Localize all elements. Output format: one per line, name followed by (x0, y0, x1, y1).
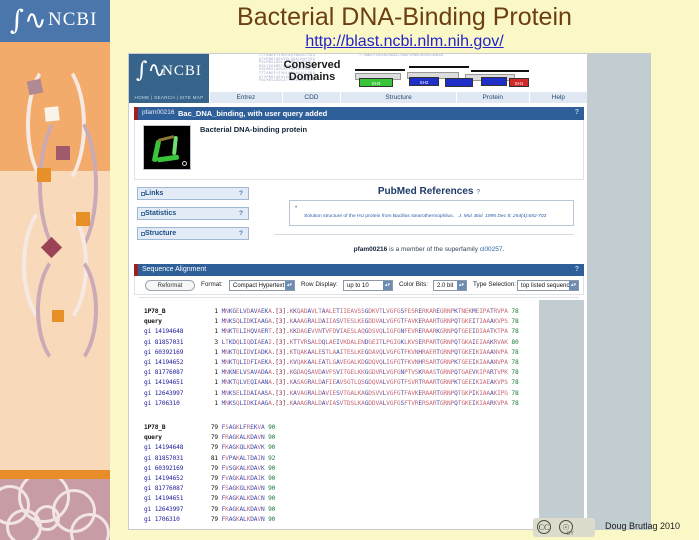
alignment-start-pos: 81 (204, 455, 218, 462)
alignment-seq-id[interactable]: gi 1706310 (144, 400, 204, 407)
panel-accent-tab (134, 264, 138, 276)
sidebar-square-2 (44, 106, 59, 121)
superfamily-period: . (503, 246, 505, 253)
alignment-row[interactable]: 1P78_B1 MNKGELVDAVAEKA.[3].KKQADAVLTAALE… (144, 308, 519, 315)
alignment-start-pos: 79 (204, 506, 218, 513)
nav-item-entrez[interactable]: Entrez (209, 92, 282, 103)
sidebar-square-1 (27, 79, 44, 96)
pubmed-heading: PubMed References ? (279, 186, 579, 197)
alignment-seq-id[interactable]: gi 81776087 (144, 485, 204, 492)
alignment-seq-id[interactable]: gi 12643997 (144, 506, 204, 513)
alignment-end-pos: 78 (511, 390, 518, 397)
alignment-seq-id[interactable]: 1P78_B (144, 308, 204, 315)
alignment-end-pos: 78 (511, 308, 518, 315)
alignment-start-pos: 3 (204, 339, 218, 346)
nav-item-cdd[interactable]: CDD (282, 92, 340, 103)
alignment-end-pos: 90 (268, 475, 275, 482)
alignment-row[interactable]: gi 1419465279 FVAGKALKDAIK 90 (144, 475, 275, 482)
pfam-panel-body: Bacterial DNA-binding protein (134, 120, 584, 180)
page-title: Bacterial DNA-Binding Protein (110, 3, 699, 32)
ncbi-brand-label: NCBI (162, 63, 202, 80)
pubmed-citation-box: • Solution structure of the HU protein f… (289, 200, 574, 226)
panel-accent-tab (134, 107, 138, 120)
color-bits-select[interactable]: 2.0 bit ▴▾ (433, 280, 467, 291)
pfam-colon: : (172, 109, 174, 116)
sidebar-ncbi-band: ∫∿ NCBI (0, 0, 110, 42)
sidebar-paisley-pattern (0, 479, 110, 540)
pubmed-citation-title[interactable]: Solution structure of the HU protein fro… (304, 214, 454, 219)
alignment-seq-id[interactable]: gi 81857031 (144, 455, 204, 462)
alignment-start-pos: 1 (204, 400, 218, 407)
alignment-end-pos: 90 (268, 424, 275, 431)
accordion-label-structure: Structure (145, 230, 176, 237)
cc-by-label: BY (567, 531, 574, 537)
alignment-seq-id[interactable]: gi 14194652 (144, 359, 204, 366)
alignment-row[interactable]: gi 1419464879 FKAGKQLKDAVK 90 (144, 444, 275, 451)
row-display-select[interactable]: up to 10 ▴▾ (343, 280, 393, 291)
accordion-label-links: Links (145, 190, 163, 197)
alignment-start-pos: 1 (204, 369, 218, 376)
color-bits-label: Color Bits: (399, 281, 428, 288)
alignment-row[interactable]: gi 141946511 MNKTQLVEQIAANA.[3].KASAGRAL… (144, 379, 519, 386)
accordion-label-statistics: Statistics (145, 210, 176, 217)
alignment-seq-id[interactable]: gi 60392169 (144, 465, 204, 472)
format-label: Format: (201, 281, 223, 288)
pfam-title-label: Bac_DNA_binding, with user query added (178, 109, 327, 118)
sidebar-square-7 (52, 310, 64, 322)
alignment-start-pos: 79 (204, 465, 218, 472)
help-icon[interactable]: ? (476, 189, 480, 196)
creative-commons-badge: CC ☉ BY (533, 518, 595, 537)
browser-screenshot: ∫∿ NCBI TTTANEEYIVHLAQYNAALLYDAATVPNRLQE… (128, 53, 588, 530)
superfamily-note: pfam00216 is a member of the superfamily… (274, 246, 584, 253)
alignment-end-pos: 90 (268, 495, 275, 502)
author-credit: Doug Brutlag 2010 (605, 521, 680, 531)
alignment-row[interactable]: gi 818570313 LTKDQLIQDIAEAI.[3].KTTVRSAL… (144, 339, 519, 346)
alignment-start-pos: 1 (204, 390, 218, 397)
pfam-panel-header: pfam00216 : Bac_DNA_binding, with user q… (134, 107, 584, 120)
chevron-down-icon: ▴▾ (569, 281, 578, 290)
nav-item-protein[interactable]: Protein (456, 92, 529, 103)
alignment-row[interactable]: 1P78_B79 FSAGKLFREKVA 90 (144, 424, 275, 431)
sidebar-item-links[interactable]: Links ? (137, 187, 249, 200)
alignment-toolbar: Reformat Format: Compact Hypertext ▴▾ Ro… (134, 276, 584, 295)
nav-sub-links[interactable]: HOME | SEARCH | SITE MAP (129, 92, 209, 103)
protein-structure-thumbnail[interactable] (143, 125, 191, 170)
alignment-end-pos: 78 (511, 400, 518, 407)
alignment-start-pos: 79 (204, 444, 218, 451)
help-icon[interactable]: ? (575, 266, 579, 273)
type-selection-select[interactable]: top listed sequences ▴▾ (517, 280, 579, 291)
chevron-down-icon: ▴▾ (383, 281, 392, 290)
alignment-end-pos: 90 (268, 516, 275, 523)
alignment-seq-id[interactable]: gi 12643997 (144, 390, 204, 397)
superfamily-text: is a member of the superfamily (387, 246, 479, 253)
cc-icon: CC (537, 520, 551, 534)
superfamily-accession: pfam00216 (354, 246, 388, 253)
alignment-row[interactable]: gi 8185703181 FVPAKALTDAIN 92 (144, 455, 275, 462)
sidebar-square-3 (56, 146, 70, 160)
alignment-row[interactable]: gi 126439971 MNKSELIDAIAASA.[3].KAVAGRAL… (144, 390, 519, 397)
alignment-viewport: 1P78_B1 MNKGELVDAVAEKA.[3].KKQADAVLTAALE… (134, 300, 584, 525)
chevron-down-icon: ▴▾ (457, 281, 466, 290)
ncbi-banner: ∫∿ NCBI TTTANEEYIVHLAQYNAALLYDAATVPNRLQE… (129, 54, 587, 92)
alignment-row[interactable]: gi 603921691 MNKTQLIDVIADKA.[3].KTQAKAAL… (144, 349, 519, 356)
sequence-alignment-title: Sequence Alignment (142, 266, 206, 273)
pubmed-citation-journal: J. Mol. Biol. 1995 Dec 8; 254(4):692-703 (459, 214, 547, 219)
alignment-row[interactable]: gi 8177608779 FSAGKGLKDAVN 90 (144, 485, 275, 492)
superfamily-link[interactable]: cl00257 (480, 246, 503, 253)
alignment-seq-id[interactable]: 1P78_B (144, 424, 204, 431)
sidebar-item-structure[interactable]: Structure ? (137, 227, 249, 240)
alignment-start-pos: 79 (204, 475, 218, 482)
conserved-domains-title: Conserved Domains (277, 59, 347, 83)
decorative-sidebar: ∫∿ NCBI (0, 0, 110, 540)
type-selection-value: top listed sequences (521, 283, 576, 289)
browser-right-panel (588, 53, 651, 530)
ncbi-logo-block[interactable]: ∫∿ NCBI (129, 54, 209, 92)
row-display-value: up to 10 (347, 283, 369, 289)
nav-item-structure[interactable]: Structure (340, 92, 456, 103)
row-display-label: Row Display: (301, 281, 338, 288)
alignment-seq-id[interactable]: gi 1706310 (144, 516, 204, 523)
alignment-seq-id[interactable]: query (144, 434, 204, 441)
alignment-row[interactable]: gi 817760871 MNKNELVSAVADAA.[3].KGDAQSAV… (144, 369, 519, 376)
alignment-seq-id[interactable]: gi 14194651 (144, 379, 204, 386)
alignment-seq-id[interactable]: query (144, 318, 204, 325)
dna-helix-icon: ∫∿ (10, 6, 44, 36)
alignment-end-pos: 78 (511, 318, 518, 325)
alignment-start-pos: 1 (204, 328, 218, 335)
alignment-seq-id[interactable]: gi 14194652 (144, 475, 204, 482)
magnify-icon (182, 161, 187, 166)
reformat-button[interactable]: Reformat (145, 280, 195, 291)
alignment-row[interactable]: query1 MNKSQLIDKIAAGA.[3].KAAAGRALDAIIAS… (144, 318, 519, 325)
bullet-icon: • (295, 205, 297, 211)
alignment-row[interactable]: gi 6039216979 FVSGKALKDAVK 90 (144, 465, 275, 472)
help-icon[interactable]: ? (239, 210, 243, 217)
pfam-accession-label: pfam00216 (142, 109, 175, 116)
alignment-start-pos: 1 (204, 349, 218, 356)
color-bits-value: 2.0 bit (437, 283, 453, 289)
alignment-start-pos: 1 (204, 379, 218, 386)
divider (274, 234, 574, 235)
alignment-seq-id[interactable]: gi 14194648 (144, 328, 204, 335)
alignment-row[interactable]: gi 17063101 MNKSQLIDKIAAGA.[3].KAAAGRALD… (144, 400, 519, 407)
alignment-start-pos: 1 (204, 308, 218, 315)
banner-line-2: Domains (289, 71, 335, 83)
domain-backbone-1 (355, 69, 405, 71)
alignment-seq-id[interactable]: gi 81857031 (144, 339, 204, 346)
domain-sh3[interactable]: SH3 (359, 78, 393, 87)
alignment-start-pos: 79 (204, 516, 218, 523)
alignment-start-pos: 79 (204, 424, 218, 431)
alignment-row[interactable]: gi 141946521 MNKTQLIDFIAEKA.[3].KVQAKAAL… (144, 359, 519, 366)
chevron-down-icon: ▴▾ (285, 281, 294, 290)
alignment-end-pos: 90 (268, 444, 275, 451)
domain-backbone-2 (409, 66, 469, 68)
sequence-alignment-header: Sequence Alignment ? (134, 264, 584, 276)
sidebar-brand-label: NCBI (48, 9, 97, 31)
domain-sh1-blue (481, 77, 507, 86)
alignment-end-pos: 92 (268, 455, 275, 462)
sidebar-square-5 (76, 212, 90, 226)
banner-sequence-background-top: TTTANEEYIVHLAQYNAALLYDAATVPNRLQEAVELAQKL… (359, 54, 529, 66)
pfam-description: Bacterial DNA-binding protein (200, 125, 307, 134)
alignment-end-pos: 90 (268, 506, 275, 513)
domain-sh2-right (445, 78, 473, 87)
help-icon[interactable]: ? (575, 109, 579, 116)
sidebar-square-4 (37, 168, 51, 182)
domain-backbone-3 (471, 70, 529, 72)
alignment-end-pos: 90 (268, 434, 275, 441)
alignment-start-pos: 79 (204, 495, 218, 502)
alignment-end-pos: 90 (268, 465, 275, 472)
domain-sh2-left[interactable]: SH2 (409, 77, 439, 86)
alignment-row[interactable]: gi 1264399779 FKAGKALKDAVN 90 (144, 506, 275, 513)
alignment-end-pos: 90 (268, 485, 275, 492)
alignment-row[interactable]: gi 170631079 FRAGKALKDAVN 90 (144, 516, 275, 523)
alignment-seq-id[interactable]: gi 81776087 (144, 369, 204, 376)
alignment-start-pos: 1 (204, 318, 218, 325)
alignment-start-pos: 79 (204, 434, 218, 441)
alignment-seq-id[interactable]: gi 14194651 (144, 495, 204, 502)
format-value: Compact Hypertext (233, 283, 284, 289)
blast-url-link[interactable]: http://blast.ncbi.nlm.nih.gov/ (110, 33, 699, 51)
sidebar-orange-bar (0, 470, 110, 479)
type-selection-label: Type Selection: (473, 281, 516, 288)
format-select[interactable]: Compact Hypertext ▴▾ (229, 280, 295, 291)
helix-strand-mauve-2 (36, 250, 98, 370)
help-icon[interactable]: ? (239, 230, 243, 237)
nav-item-help[interactable]: Help (529, 92, 587, 103)
alignment-end-pos: 78 (511, 369, 518, 376)
sidebar-item-statistics[interactable]: Statistics ? (137, 207, 249, 220)
alignment-row[interactable]: gi 141946481 MNKTELIHQVAERT.[3].KKDAGEVV… (144, 328, 519, 335)
alignment-start-pos: 1 (204, 359, 218, 366)
alignment-end-pos: 78 (511, 349, 518, 356)
banner-line-1: Conserved (284, 59, 341, 71)
alignment-end-pos: 78 (511, 359, 518, 366)
alignment-row[interactable]: query79 FRAGKALKDAVN 90 (144, 434, 275, 441)
conserved-domains-banner: TTTANEEYIVHLAQYNAALLYDAATVPNRLQEAVELAQKL… (259, 54, 529, 92)
divider (139, 297, 579, 298)
pubmed-heading-label: PubMed References (378, 186, 474, 197)
alignment-seq-id[interactable]: gi 14194648 (144, 444, 204, 451)
alignment-end-pos: 80 (511, 339, 518, 346)
alignment-end-pos: 78 (511, 328, 518, 335)
domain-sh1[interactable]: SH1 (509, 78, 529, 87)
alignment-end-pos: 78 (511, 379, 518, 386)
site-navigation: HOME | SEARCH | SITE MAP Entrez CDD Stru… (129, 92, 587, 103)
alignment-row[interactable]: gi 1419465179 FKAGKALKDACN 90 (144, 495, 275, 502)
alignment-seq-id[interactable]: gi 60392169 (144, 349, 204, 356)
alignment-start-pos: 79 (204, 485, 218, 492)
help-icon[interactable]: ? (239, 190, 243, 197)
